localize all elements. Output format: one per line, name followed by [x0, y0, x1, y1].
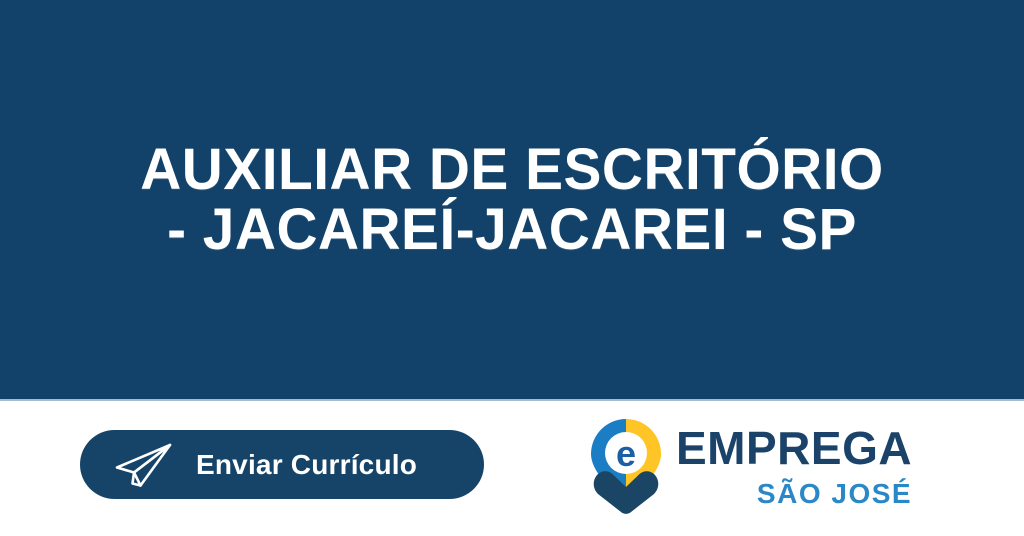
paper-plane-icon: [112, 442, 174, 488]
brand-logo[interactable]: e EMPREGA SÃO JOSÉ: [588, 417, 928, 521]
brand-wordmark: EMPREGA SÃO JOSÉ: [676, 417, 912, 508]
send-resume-label: Enviar Currículo: [196, 449, 417, 481]
location-pin-icon: e: [588, 417, 664, 515]
send-resume-button[interactable]: Enviar Currículo: [80, 430, 484, 499]
footer-bar: Enviar Currículo e EMPREGA: [0, 401, 1024, 536]
brand-name: EMPREGA: [676, 425, 912, 471]
svg-text:e: e: [616, 433, 636, 474]
job-posting-card: AUXILIAR DE ESCRITÓRIO - JACAREÍ-JACAREI…: [0, 0, 1024, 536]
page-title: AUXILIAR DE ESCRITÓRIO - JACAREÍ-JACAREI…: [125, 140, 899, 259]
hero-banner: AUXILIAR DE ESCRITÓRIO - JACAREÍ-JACAREI…: [0, 0, 1024, 399]
brand-subtitle: SÃO JOSÉ: [757, 480, 912, 508]
